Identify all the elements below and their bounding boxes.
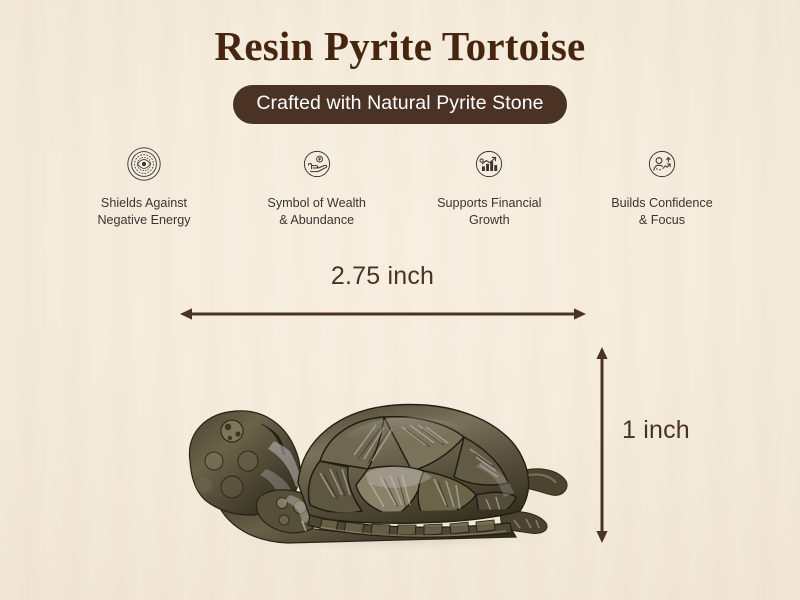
- feature-list: Shields Against Negative Energy Symbol o…: [58, 146, 748, 228]
- width-dimension-arrow: [178, 303, 588, 325]
- hand-holding-coin-icon: [299, 146, 335, 182]
- feature-item-shields-against-negative-energy: Shields Against Negative Energy: [58, 146, 230, 228]
- feature-item-symbol-of-wealth-abundance: Symbol of Wealth & Abundance: [231, 146, 403, 228]
- product-image-tortoise: [170, 365, 590, 560]
- width-dimension-label: 2.75 inch: [181, 262, 584, 291]
- feature-label: Builds Confidence & Focus: [611, 195, 713, 228]
- subtitle-badge: Crafted with Natural Pyrite Stone: [233, 85, 566, 124]
- evil-eye-shield-icon: [126, 146, 162, 182]
- product-infographic: Resin Pyrite Tortoise Crafted with Natur…: [0, 0, 800, 600]
- page-title: Resin Pyrite Tortoise: [0, 22, 800, 70]
- height-dimension-arrow: [591, 345, 613, 545]
- growth-bar-chart-icon: [471, 146, 507, 182]
- feature-label: Shields Against Negative Energy: [97, 195, 190, 228]
- subtitle-container: Crafted with Natural Pyrite Stone: [0, 85, 800, 124]
- person-confidence-icon: [644, 146, 680, 182]
- feature-item-builds-confidence-focus: Builds Confidence & Focus: [576, 146, 748, 228]
- feature-label: Symbol of Wealth & Abundance: [267, 195, 365, 228]
- feature-item-supports-financial-growth: Supports Financial Growth: [403, 146, 575, 228]
- feature-label: Supports Financial Growth: [437, 195, 541, 228]
- height-dimension-label: 1 inch: [622, 416, 690, 445]
